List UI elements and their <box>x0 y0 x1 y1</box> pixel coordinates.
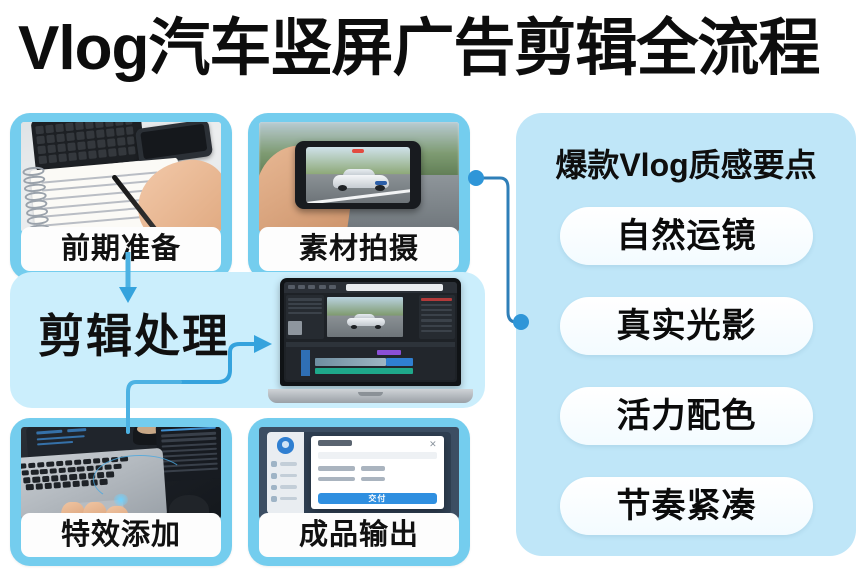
export-confirm-button[interactable]: 交付 <box>318 493 437 504</box>
prep-photo <box>21 122 221 232</box>
flow-card-label: 特效添加 <box>61 521 181 550</box>
flow-card-label: 素材拍摄 <box>299 235 419 264</box>
quality-point-pill-3[interactable]: 活力配色 <box>560 387 813 445</box>
flow-card-step-5[interactable]: ✕ 交付 成品输出 <box>248 418 470 566</box>
export-dialog-graphic: ✕ 交付 <box>311 436 443 509</box>
glow-cable-graphic <box>93 455 187 505</box>
export-photo: ✕ 交付 <box>259 427 459 519</box>
quality-point-label: 节奏紧凑 <box>617 489 757 523</box>
flow-card-label: 前期准备 <box>61 235 181 264</box>
quality-point-label: 自然运镜 <box>617 219 757 253</box>
quality-point-pill-1[interactable]: 自然运镜 <box>560 207 813 265</box>
flow-card-label-plate: 成品输出 <box>259 513 459 557</box>
quality-point-label: 真实光影 <box>617 309 757 343</box>
phone-screen <box>306 147 409 203</box>
edit-stage-label: 剪辑处理 <box>38 300 230 366</box>
flow-card-label-plate: 前期准备 <box>21 227 221 271</box>
laptop-editor-photo <box>268 278 473 403</box>
quality-point-pill-4[interactable]: 节奏紧凑 <box>560 477 813 535</box>
flow-card-step-4[interactable]: 特效添加 <box>10 418 232 566</box>
quality-point-label: 活力配色 <box>617 399 757 433</box>
flow-card-step-1[interactable]: 前期准备 <box>10 113 232 280</box>
editor-media-panel <box>286 295 324 339</box>
flow-card-label-plate: 素材拍摄 <box>259 227 459 271</box>
avatar <box>277 437 295 454</box>
infographic-canvas: Vlog汽车竖屏广告剪辑全流程 <box>0 0 868 575</box>
quality-points-title: 爆款Vlog质感要点 <box>516 140 856 186</box>
flow-card-step-2[interactable]: 素材拍摄 <box>248 113 470 280</box>
page-title: Vlog汽车竖屏广告剪辑全流程 <box>18 10 858 88</box>
flow-card-label: 成品输出 <box>299 521 419 550</box>
editor-toolbar <box>284 282 456 293</box>
editor-inspector-panel <box>419 295 455 339</box>
editor-preview-monitor <box>327 297 403 337</box>
car-graphic <box>333 169 389 192</box>
quality-point-pill-2[interactable]: 真实光影 <box>560 297 813 355</box>
editor-timeline <box>286 342 455 380</box>
flow-card-label-plate: 特效添加 <box>21 513 221 557</box>
app-sidebar-graphic <box>267 432 304 515</box>
effects-photo <box>21 427 221 519</box>
record-indicator-icon <box>352 149 364 153</box>
app-window-graphic: ✕ 交付 <box>267 432 451 515</box>
close-icon: ✕ <box>429 440 437 446</box>
smartphone-graphic <box>295 141 421 209</box>
shooting-photo <box>259 122 459 232</box>
